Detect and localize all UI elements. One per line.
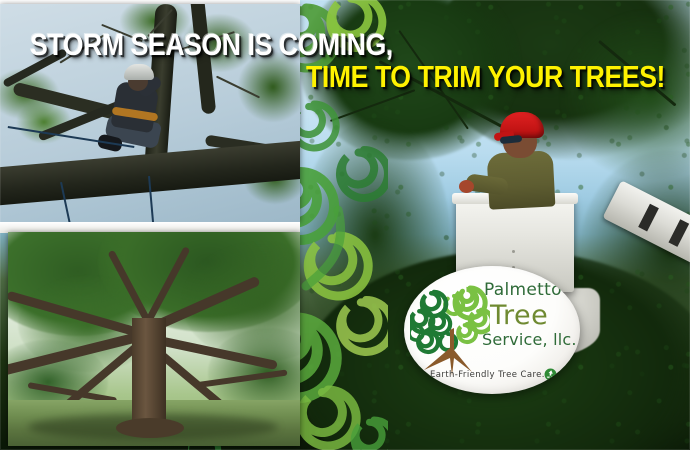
bucket-bolt [512,250,515,253]
logo-service-llc: Service, llc. [482,332,578,348]
white-helmet-icon [124,64,154,80]
logo-tagline: Earth-Friendly Tree Care. [430,370,562,380]
tree-service-banner: STORM SEASON IS COMING, TIME TO TRIM YOU… [0,0,690,450]
boom-stripe [638,204,659,232]
logo-wordmark: Palmetto Tree Service, llc. [480,276,578,348]
worker-hand [459,180,474,193]
palmetto-tree-service-logo[interactable]: Palmetto Tree Service, llc. Earth-Friend… [404,266,580,394]
headline-line-2: TIME TO TRIM YOUR TREES! [306,59,665,95]
tree-trunk [132,318,166,430]
logo-tree-word: Tree [490,302,578,329]
tree-root-flare [116,418,184,438]
live-oak-photo [8,232,300,446]
headline-line-1: STORM SEASON IS COMING, [30,27,393,63]
swirl-tree-icon [410,274,490,376]
logo-palmetto: Palmetto [484,282,578,299]
recycle-leaf-icon [544,368,557,381]
boom-stripe [668,219,689,247]
